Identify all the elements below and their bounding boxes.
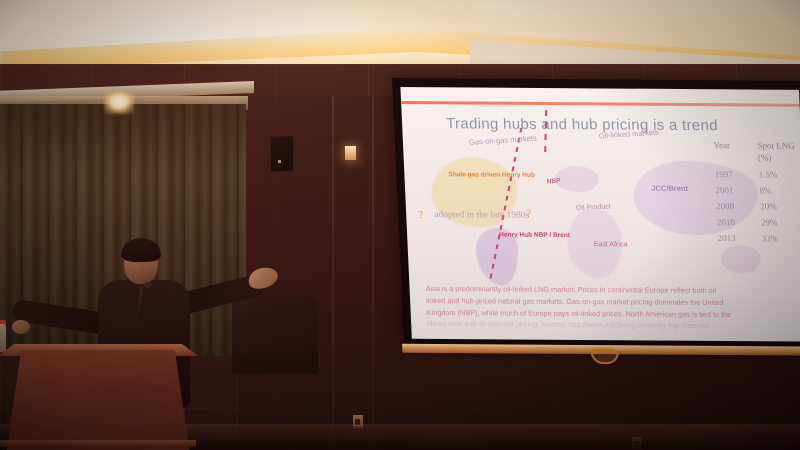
water-bottle	[0, 324, 6, 352]
wall-seam	[372, 96, 374, 450]
slide-accent-rule	[401, 101, 800, 107]
slide-surface: Trading hubs and hub pricing is a trend …	[400, 87, 800, 342]
ceiling-spot-light	[104, 92, 134, 114]
podium	[2, 350, 194, 450]
presenter	[40, 232, 270, 450]
table-cell-spot: 29%	[761, 218, 800, 227]
podium-base-band	[0, 440, 196, 447]
map-label-jcc-brent: JCC/Brent	[651, 185, 688, 194]
map-label-oil-product: Oil Product	[576, 203, 611, 213]
map-label-adopted-late-1980s: adopted in the late 1980s	[434, 209, 530, 222]
slide-title: Trading hubs and hub pricing is a trend	[446, 115, 718, 134]
presenter-hair	[121, 238, 161, 262]
presenter-hand-left	[12, 320, 30, 334]
table-cell-spot: 33%	[761, 234, 800, 243]
slide-body-text: Asia is a predominantly oil-linked LNG m…	[425, 283, 800, 333]
table-cell-spot: 20%	[760, 202, 800, 211]
projection-screen: Trading hubs and hub pricing is a trend …	[392, 78, 800, 381]
map-header-oil-linked: Oil-linked markets	[598, 129, 659, 141]
table-row: 1997 1.5%	[715, 170, 800, 180]
table-row: 2010 29%	[717, 218, 800, 228]
map-label-shale-henry-hub: Shale gas driven Henry Hub	[448, 171, 535, 180]
slide-body-line: Henry Hub and oil-indexed pricing. Sourc…	[427, 318, 800, 332]
map-region-europe	[554, 166, 599, 192]
table-cell-spot: 8%	[759, 186, 800, 195]
screen-pull-handle[interactable]	[591, 351, 620, 364]
spot-lng-table: Year Spot LNG (%) 1997 1.5% 2001 8% 2008…	[713, 141, 800, 251]
wall-lamp	[345, 146, 356, 160]
wall-speaker	[270, 135, 294, 172]
table-header-unit: (%)	[758, 153, 800, 162]
question-mark-icon: ?	[526, 208, 531, 220]
table-cell-spot: 1.5%	[759, 170, 800, 179]
table-header-year: Year	[713, 141, 757, 150]
presentation-room-photo: Trading hubs and hub pricing is a trend …	[0, 0, 800, 450]
table-cell-year: 2001	[715, 186, 759, 195]
table-header-row: Year Spot LNG	[713, 141, 800, 151]
map-header-gas-on-gas: Gas-on-gas markets	[469, 135, 538, 148]
map-label-nbp: NBP	[546, 177, 561, 186]
speaker-indicator-icon	[278, 160, 281, 163]
map-label-henry-hub-nbp-brent: Henry Hub NBP / Brent	[499, 232, 570, 241]
table-cell-year: 2013	[717, 234, 761, 243]
microphone	[144, 282, 151, 288]
map-label-east-africa: East Africa	[594, 240, 628, 250]
table-cell-year: 2010	[717, 218, 761, 227]
table-row: 2001 8%	[715, 186, 800, 196]
table-row: 2008 20%	[716, 202, 800, 212]
table-row: 2013 33%	[717, 234, 800, 244]
table-cell-year: 1997	[715, 170, 759, 179]
table-header-spot-lng: Spot LNG	[757, 141, 800, 150]
wall-seam	[332, 96, 334, 450]
table-cell-year: 2008	[716, 202, 760, 211]
question-mark-icon: ?	[418, 209, 423, 221]
